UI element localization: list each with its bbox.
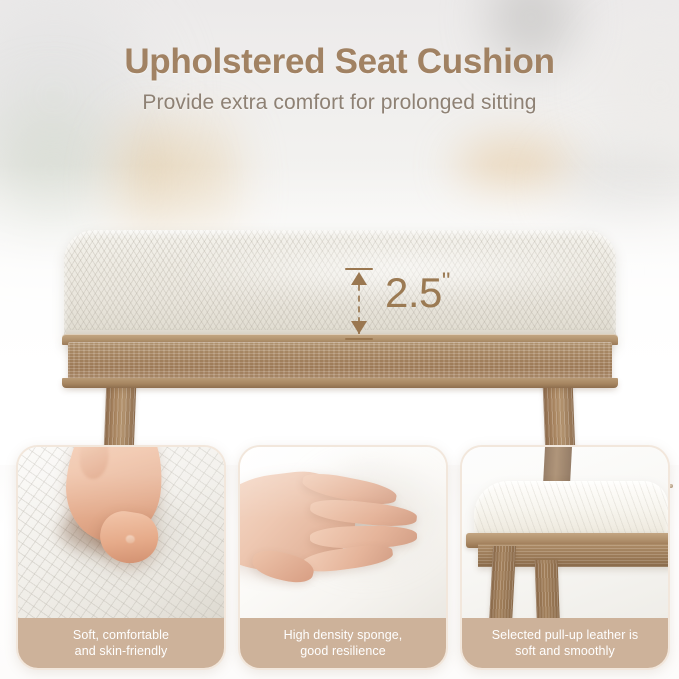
feature-photo-chair-corner xyxy=(462,447,668,618)
feature-photo-hand-press xyxy=(240,447,446,618)
fingernail xyxy=(125,534,135,544)
finger-knuckle xyxy=(78,447,110,481)
foam-surface xyxy=(240,447,446,618)
feature-photo-finger-press xyxy=(18,447,224,618)
feature-card-pull-up-leather[interactable]: Selected pull-up leather is soft and smo… xyxy=(460,445,670,670)
caption-line-2: soft and smoothly xyxy=(515,643,615,660)
caption-line-2: and skin-friendly xyxy=(75,643,168,660)
feature-caption-1: Soft, comfortable and skin-friendly xyxy=(18,618,224,668)
caption-line-1: Soft, comfortable xyxy=(73,627,169,644)
feature-caption-2: High density sponge, good resilience xyxy=(240,618,446,668)
feature-card-row: Soft, comfortable and skin-friendly xyxy=(0,0,679,679)
chair-corner-scene xyxy=(462,447,668,618)
caption-line-1: High density sponge, xyxy=(284,627,403,644)
product-infographic: Upholstered Seat Cushion Provide extra c… xyxy=(0,0,679,679)
feature-card-soft-comfortable[interactable]: Soft, comfortable and skin-friendly xyxy=(16,445,226,670)
feature-caption-3: Selected pull-up leather is soft and smo… xyxy=(462,618,668,668)
caption-line-1: Selected pull-up leather is xyxy=(492,627,639,644)
chair-leg-front xyxy=(489,546,516,618)
quilted-fabric-texture xyxy=(18,447,224,618)
chair-seat-cushion xyxy=(474,481,668,539)
caption-line-2: good resilience xyxy=(300,643,386,660)
feature-card-high-density-sponge[interactable]: High density sponge, good resilience xyxy=(238,445,448,670)
chair-leg-back xyxy=(535,560,560,618)
